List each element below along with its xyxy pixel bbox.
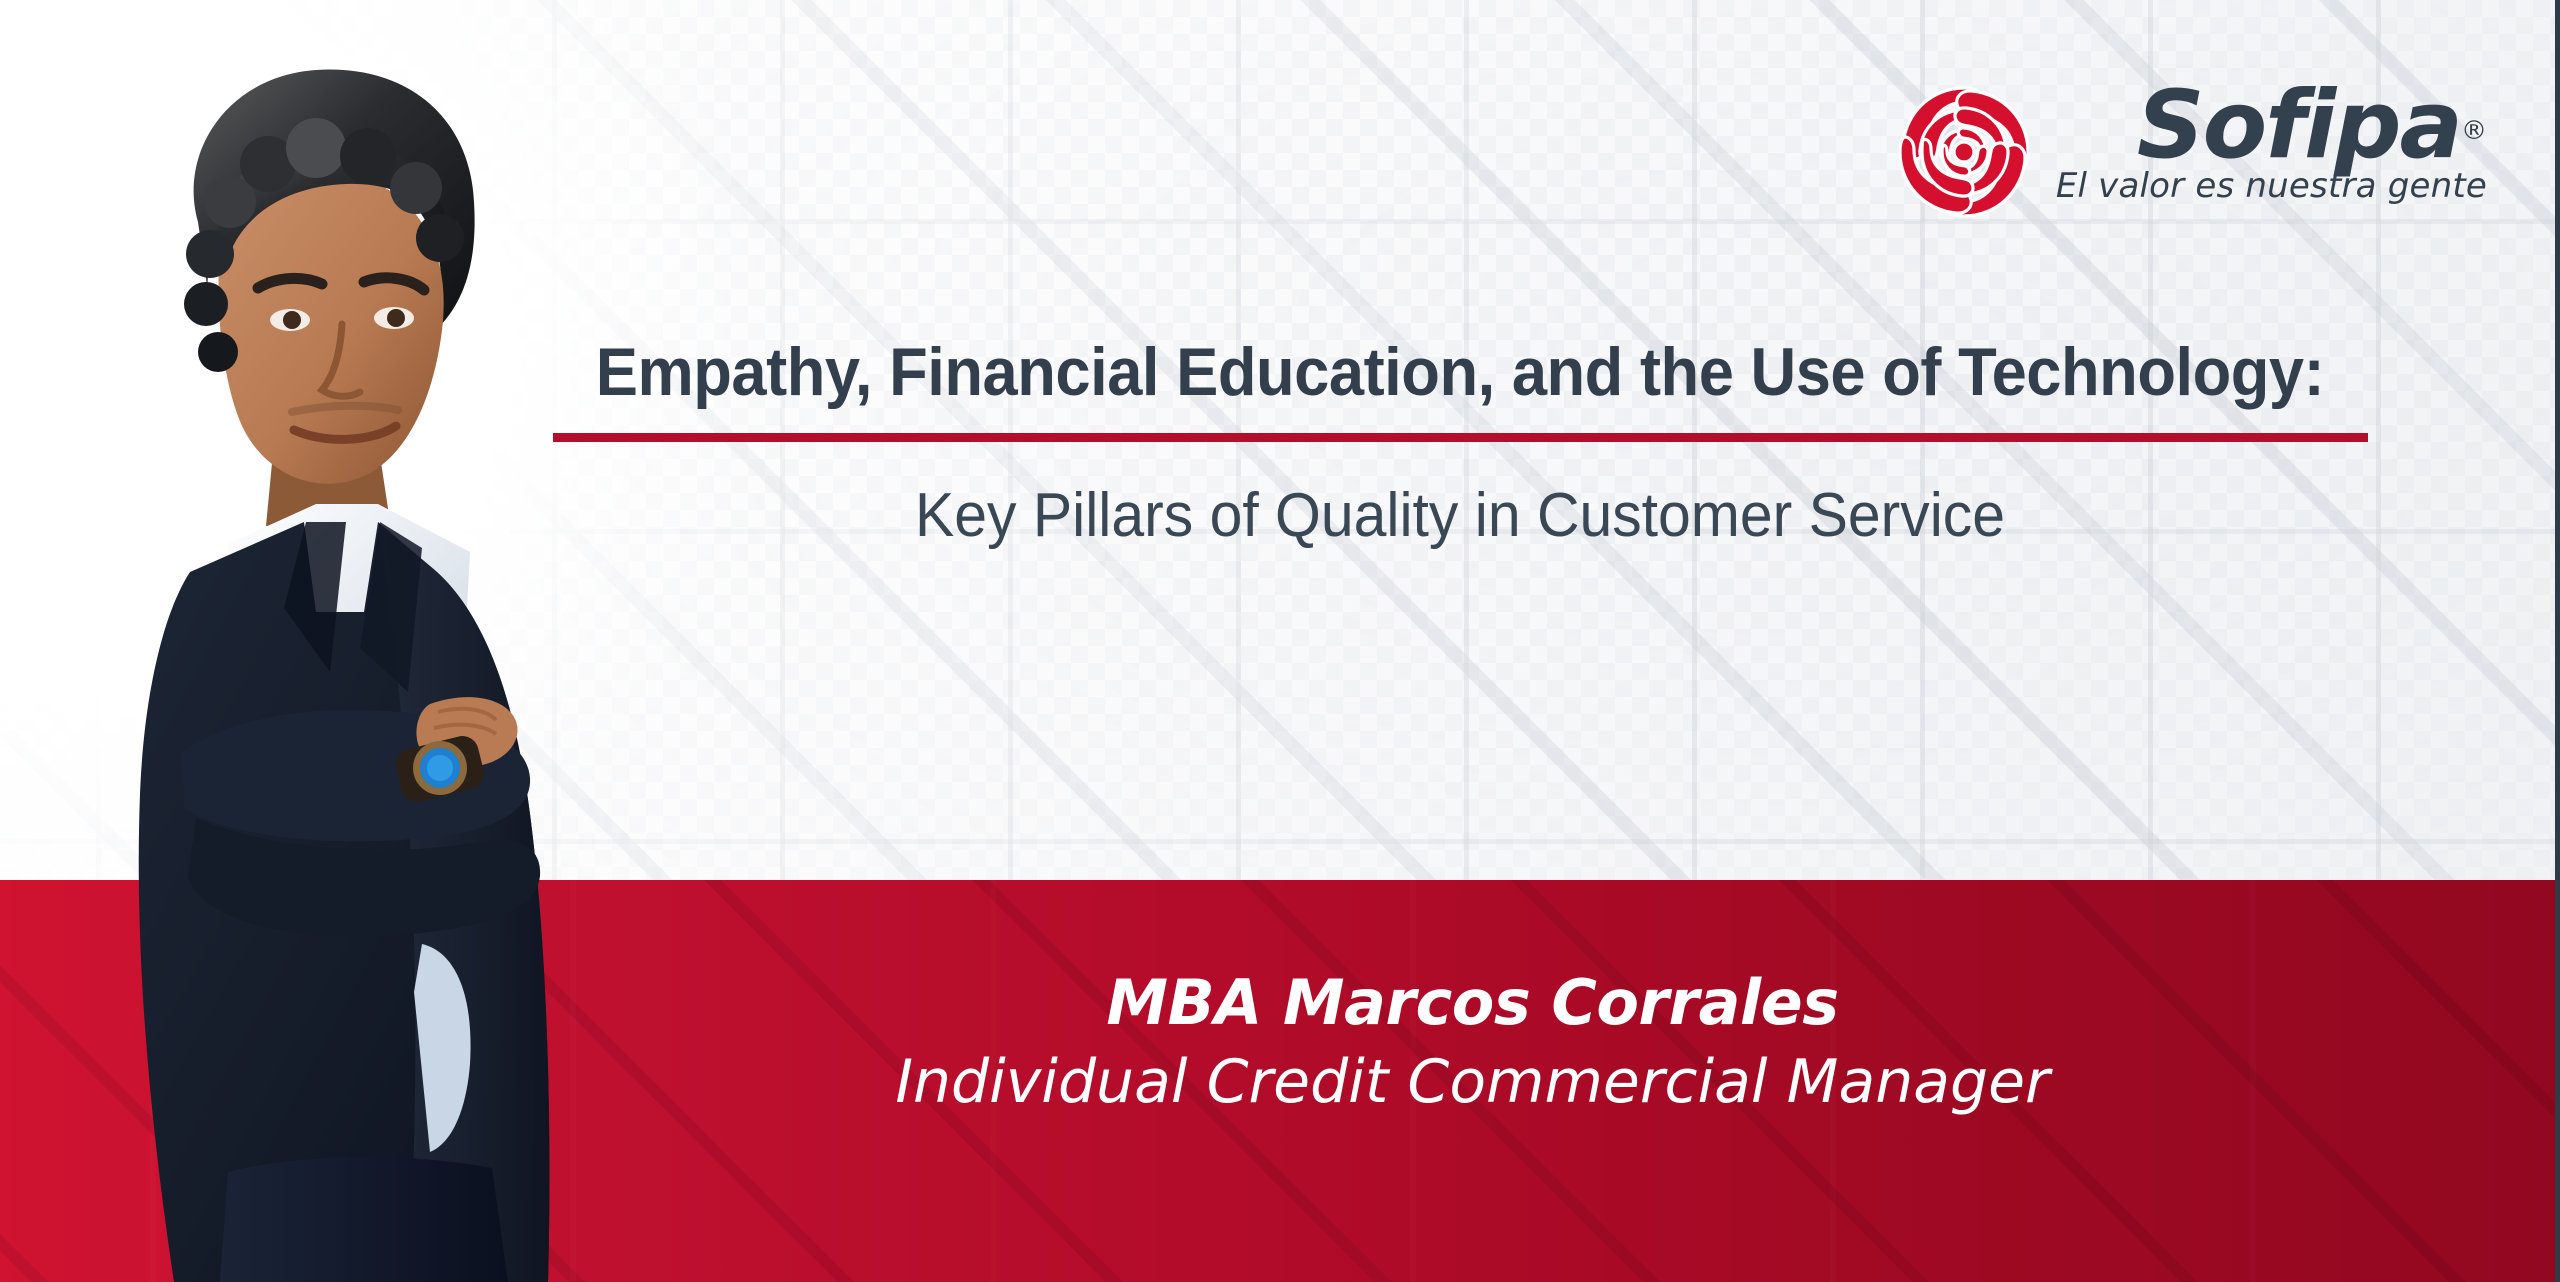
speaker-portrait (78, 52, 618, 1282)
page-subtitle: Key Pillars of Quality in Customer Servi… (567, 482, 2353, 550)
speaker-role: Individual Credit Commercial Manager (560, 1047, 2385, 1118)
sofipa-logo[interactable]: Sofipa® El valor es nuestra gente (1894, 78, 2487, 222)
logo-wordmark-text: Sofipa (2137, 71, 2461, 180)
headline-block: Empathy, Financial Education, and the Us… (520, 336, 2400, 551)
registered-trademark-icon: ® (2461, 116, 2487, 146)
presentation-slide: Sofipa® El valor es nuestra gente Empath… (0, 0, 2560, 1282)
logo-wordmark: Sofipa® (2137, 82, 2487, 170)
logo-tagline: El valor es nuestra gente (2056, 166, 2487, 206)
speaker-name: MBA Marcos Corrales (560, 968, 2385, 1039)
logo-text: Sofipa® El valor es nuestra gente (2056, 78, 2487, 206)
sofipa-rose-swirl-icon (1894, 82, 2034, 222)
page-title: Empathy, Financial Education, and the Us… (586, 336, 2334, 409)
title-divider (553, 433, 2368, 442)
speaker-block: MBA Marcos Corrales Individual Credit Co… (560, 968, 2385, 1117)
